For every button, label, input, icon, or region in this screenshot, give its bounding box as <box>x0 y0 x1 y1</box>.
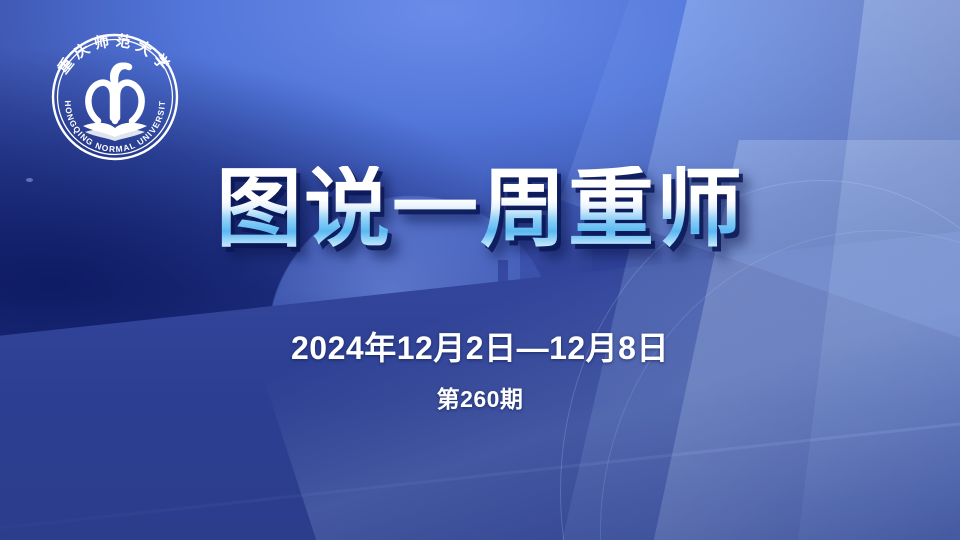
date-range-text: 2024年12月2日—12月8日 <box>0 323 960 369</box>
issue-number-text: 第260期 <box>0 380 960 414</box>
sparkle-dot <box>26 178 33 182</box>
university-logo: 重庆师范大学 CHONGQING NORMAL UNIVERSITY <box>38 22 192 170</box>
logo-emblem <box>88 66 141 121</box>
title-slide: 重庆师范大学 CHONGQING NORMAL UNIVERSITY 图说一周重… <box>0 0 960 540</box>
